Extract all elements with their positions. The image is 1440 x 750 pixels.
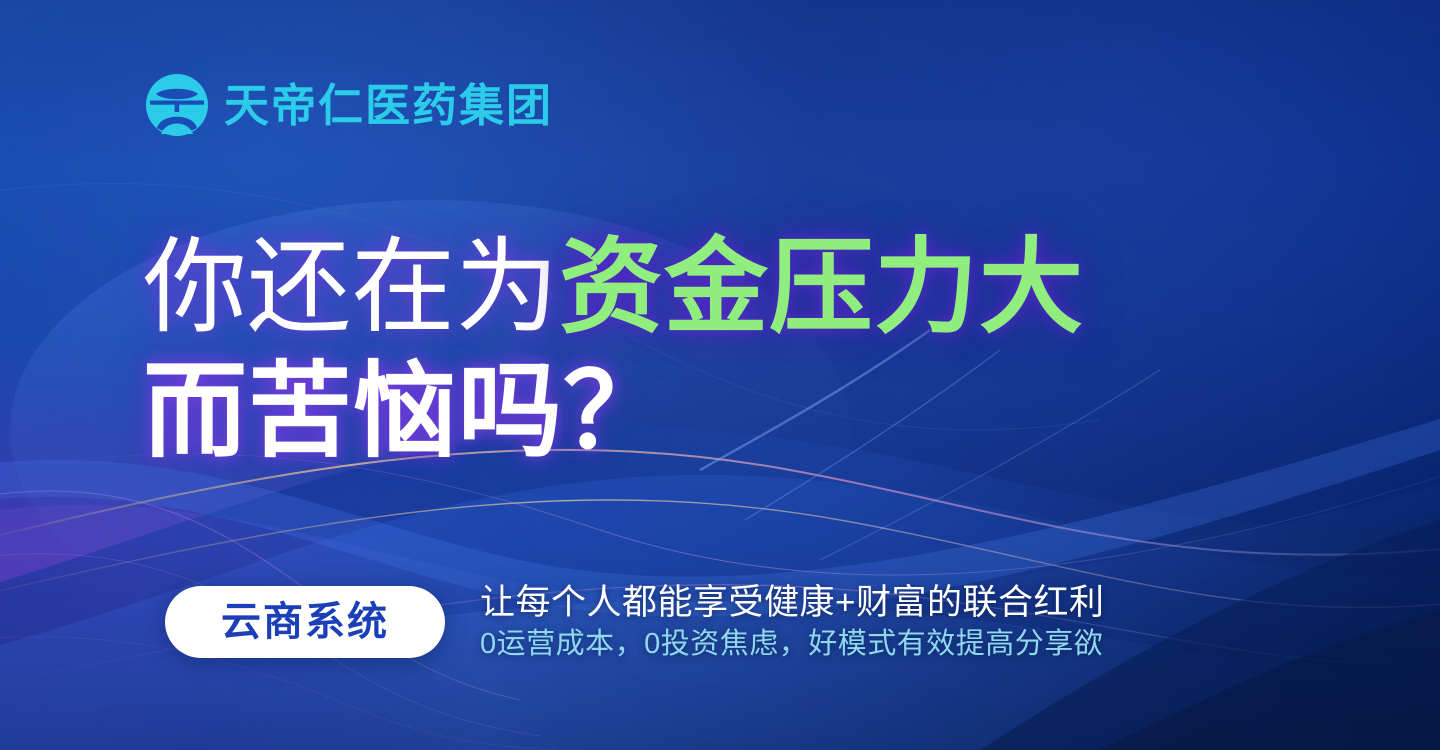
tagline-group: 让每个人都能享受健康+财富的联合红利 0运营成本，0投资焦虑，好模式有效提高分享… xyxy=(480,583,1104,662)
headline-plain-text: 你还在为 xyxy=(143,230,559,346)
bottom-bar: 云商系统 让每个人都能享受健康+财富的联合红利 0运营成本，0投资焦虑，好模式有… xyxy=(165,583,1104,662)
headline-line-2: 而苦恼吗？ xyxy=(143,360,1084,464)
promo-banner: 天帝仁医药集团 你还在为资金压力大 而苦恼吗？ 云商系统 让每个人都能享受健康+… xyxy=(0,0,1440,750)
tagline-primary: 让每个人都能享受健康+财富的联合红利 xyxy=(480,583,1104,623)
headline-line-1: 你还在为资金压力大 xyxy=(143,236,1084,340)
headline: 你还在为资金压力大 而苦恼吗？ xyxy=(143,236,1084,464)
headline-highlight-text: 资金压力大 xyxy=(559,230,1084,346)
globe-circle-icon xyxy=(144,72,210,138)
brand-logo: 天帝仁医药集团 xyxy=(144,72,553,138)
tagline-secondary: 0运营成本，0投资焦虑，好模式有效提高分享欲 xyxy=(480,628,1104,661)
headline-line2-text: 而苦恼吗 xyxy=(143,354,563,470)
cloud-commerce-badge[interactable]: 云商系统 xyxy=(165,586,445,658)
badge-label: 云商系统 xyxy=(221,602,389,642)
brand-name: 天帝仁医药集团 xyxy=(224,83,553,128)
headline-question-mark: ？ xyxy=(563,354,667,470)
